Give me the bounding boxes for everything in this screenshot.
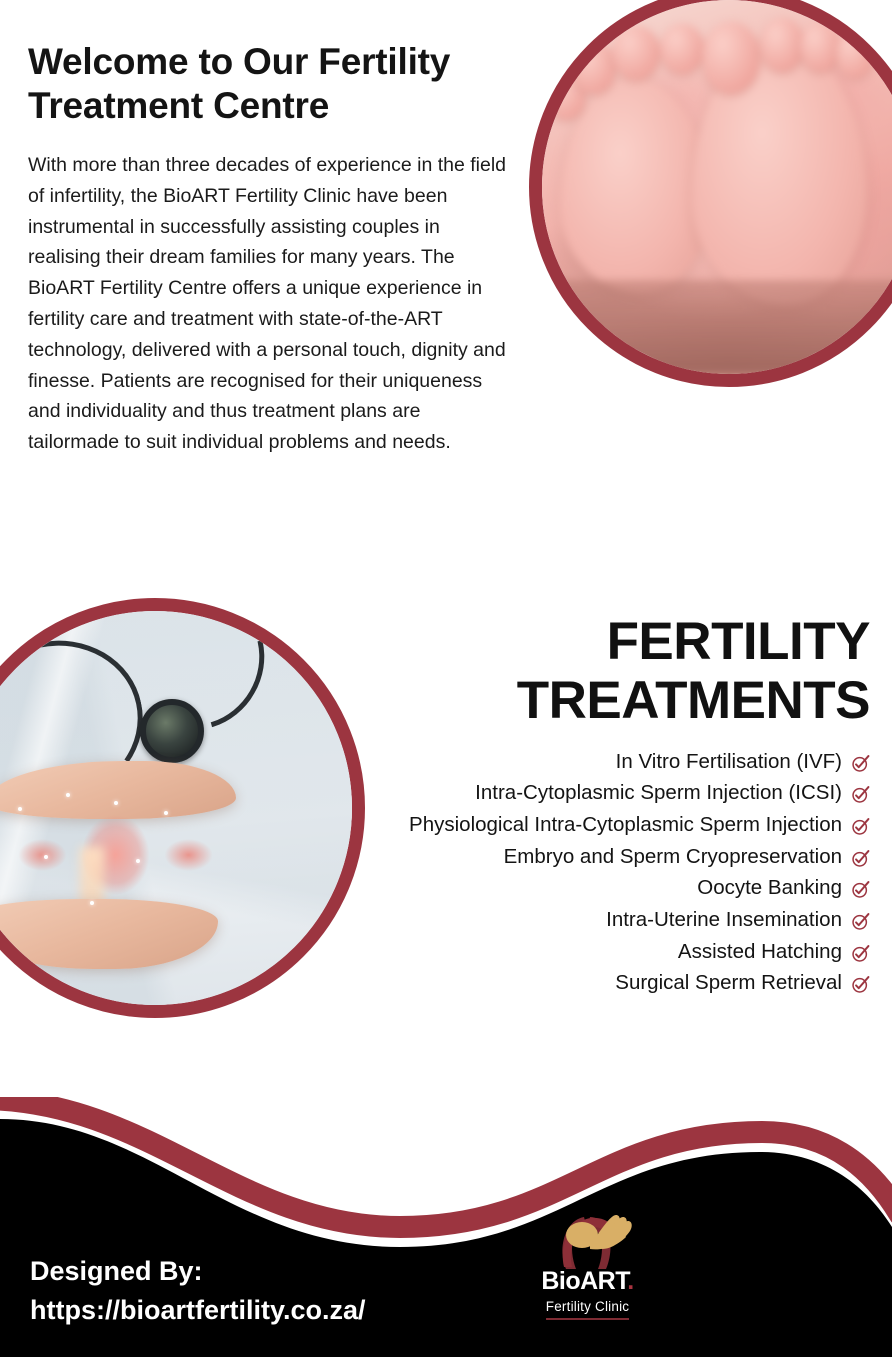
- treatments-title: FERTILITY TREATMENTS: [350, 612, 870, 731]
- treatment-item[interactable]: Surgical Sperm Retrieval: [350, 970, 870, 997]
- toe: [760, 18, 804, 72]
- treatment-label: In Vitro Fertilisation (IVF): [616, 749, 842, 776]
- treatment-label: Oocyte Banking: [697, 875, 842, 902]
- foot-sole-left: [560, 78, 710, 293]
- toe: [572, 42, 616, 94]
- designed-by-label: Designed By:: [30, 1252, 366, 1290]
- treatments-list: In Vitro Fertilisation (IVF)Intra-Cytopl…: [350, 749, 870, 997]
- treatment-label: Assisted Hatching: [678, 939, 842, 966]
- treatment-label: Surgical Sperm Retrieval: [615, 970, 842, 997]
- check-circle-icon: [851, 817, 870, 836]
- footer-url[interactable]: https://bioartfertility.co.za/: [30, 1291, 366, 1329]
- treatment-label: Embryo and Sperm Cryopreservation: [504, 844, 842, 871]
- mesh-node: [114, 801, 118, 805]
- check-circle-icon: [851, 849, 870, 868]
- check-circle-icon: [851, 880, 870, 899]
- treatment-label: Intra-Uterine Insemination: [606, 907, 842, 934]
- logo-tagline: Fertility Clinic: [546, 1299, 629, 1320]
- mesh-node: [136, 859, 140, 863]
- treatment-item[interactable]: Intra-Cytoplasmic Sperm Injection (ICSI): [350, 780, 870, 807]
- footer-credit: Designed By: https://bioartfertility.co.…: [30, 1252, 366, 1329]
- treatment-item[interactable]: Embryo and Sperm Cryopreservation: [350, 844, 870, 871]
- logo-word-text: BioART: [541, 1267, 627, 1295]
- toe: [660, 24, 704, 74]
- treatments-section: FERTILITY TREATMENTS In Vitro Fertilisat…: [350, 612, 870, 1002]
- toe: [800, 22, 840, 72]
- logo-wordmark: BioART.: [520, 1269, 655, 1294]
- mesh-node: [66, 793, 70, 797]
- bioart-logo[interactable]: BioART. Fertility Clinic: [520, 1205, 655, 1340]
- treatment-label: Intra-Cytoplasmic Sperm Injection (ICSI): [475, 780, 842, 807]
- toe: [702, 22, 760, 94]
- check-circle-icon: [851, 912, 870, 931]
- treatment-item[interactable]: In Vitro Fertilisation (IVF): [350, 749, 870, 776]
- mesh-node: [18, 807, 22, 811]
- baby-feet-photo-content: [542, 0, 892, 374]
- treatment-label: Physiological Intra-Cytoplasmic Sperm In…: [409, 812, 842, 839]
- check-circle-icon: [851, 944, 870, 963]
- stethoscope-head-icon: [140, 699, 204, 763]
- mesh-node: [164, 811, 168, 815]
- treatment-item[interactable]: Oocyte Banking: [350, 875, 870, 902]
- toe: [836, 30, 874, 78]
- poster-canvas: Welcome to Our Fertility Treatment Centr…: [0, 0, 892, 1357]
- treatment-item[interactable]: Assisted Hatching: [350, 939, 870, 966]
- check-circle-icon: [851, 975, 870, 994]
- treatment-item[interactable]: Intra-Uterine Insemination: [350, 907, 870, 934]
- mesh-node: [90, 901, 94, 905]
- doctor-uterus-photo: [0, 611, 352, 1005]
- baby-feet-photo: [542, 0, 892, 374]
- toe: [612, 26, 660, 80]
- intro-block: Welcome to Our Fertility Treatment Centr…: [28, 40, 508, 458]
- treatment-item[interactable]: Physiological Intra-Cytoplasmic Sperm In…: [350, 812, 870, 839]
- logo-dot: .: [627, 1267, 633, 1295]
- check-circle-icon: [851, 754, 870, 773]
- page-title: Welcome to Our Fertility Treatment Centr…: [28, 40, 508, 128]
- intro-paragraph: With more than three decades of experien…: [28, 150, 508, 458]
- hand-cradling-baby-icon: [520, 1205, 655, 1271]
- hand-under-feet: [542, 280, 892, 374]
- mesh-node: [44, 855, 48, 859]
- check-circle-icon: [851, 785, 870, 804]
